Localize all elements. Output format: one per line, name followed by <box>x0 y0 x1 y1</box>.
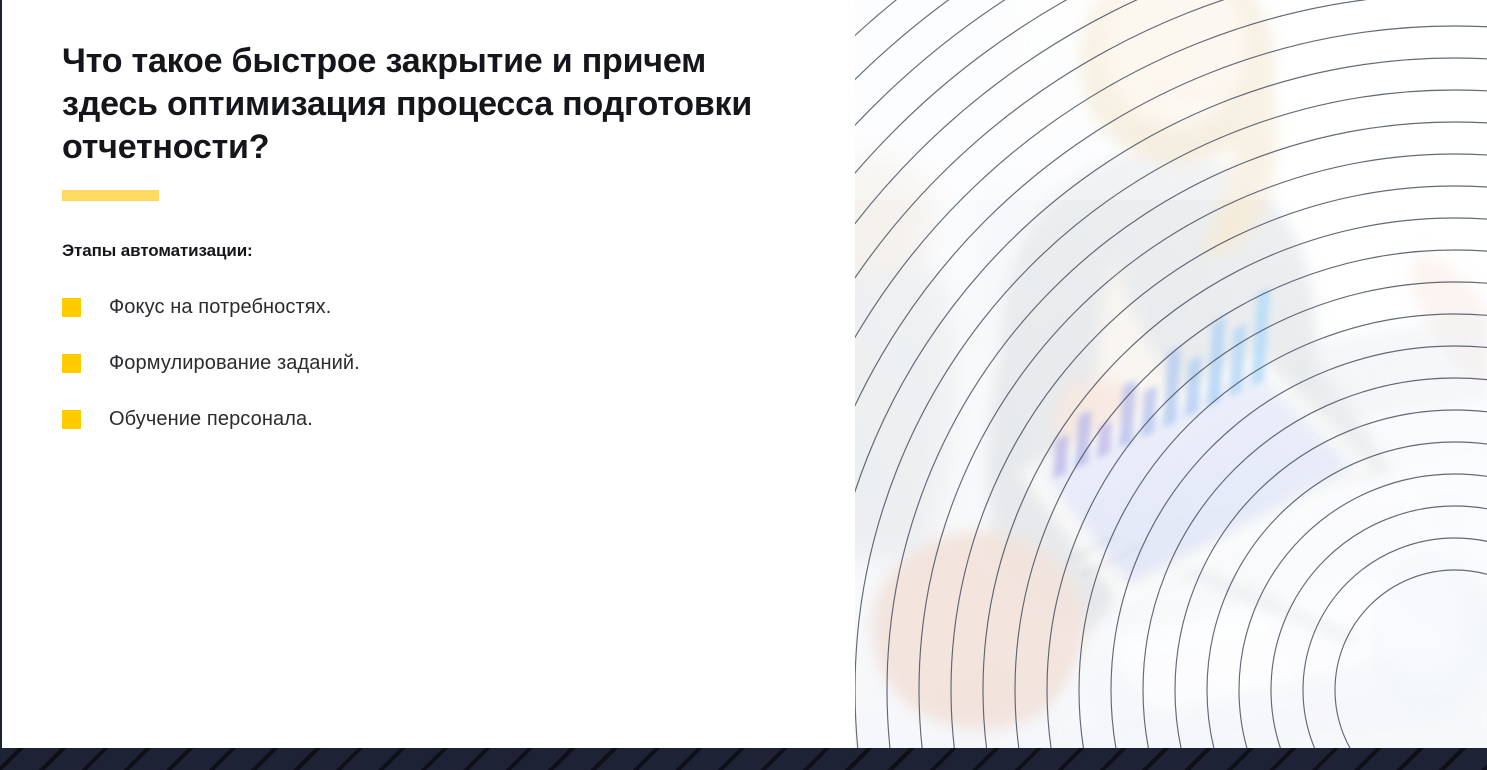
bullet-list: Фокус на потребностях. Формулирование за… <box>62 262 852 436</box>
list-item-label: Обучение персонала. <box>109 406 313 432</box>
square-bullet-icon <box>62 354 81 373</box>
diagonal-stripes-pattern <box>0 748 1487 770</box>
accent-bar <box>62 190 159 201</box>
photo-panel <box>855 0 1487 748</box>
section-subtitle: Этапы автоматизации: <box>62 201 852 262</box>
text-column: Что такое быстрое закрытие и причем здес… <box>62 40 852 458</box>
list-item-label: Формулирование заданий. <box>109 350 360 376</box>
list-item: Формулирование заданий. <box>62 346 852 380</box>
slide-title: Что такое быстрое закрытие и причем здес… <box>62 40 792 169</box>
list-item: Обучение персонала. <box>62 402 852 436</box>
list-item-label: Фокус на потребностях. <box>109 294 331 320</box>
office-photo <box>855 0 1487 748</box>
square-bullet-icon <box>62 298 81 317</box>
list-item: Фокус на потребностях. <box>62 290 852 324</box>
square-bullet-icon <box>62 410 81 429</box>
bottom-striped-band <box>0 748 1487 770</box>
left-edge-rule <box>0 0 2 748</box>
slide: Что такое быстрое закрытие и причем здес… <box>0 0 1487 770</box>
